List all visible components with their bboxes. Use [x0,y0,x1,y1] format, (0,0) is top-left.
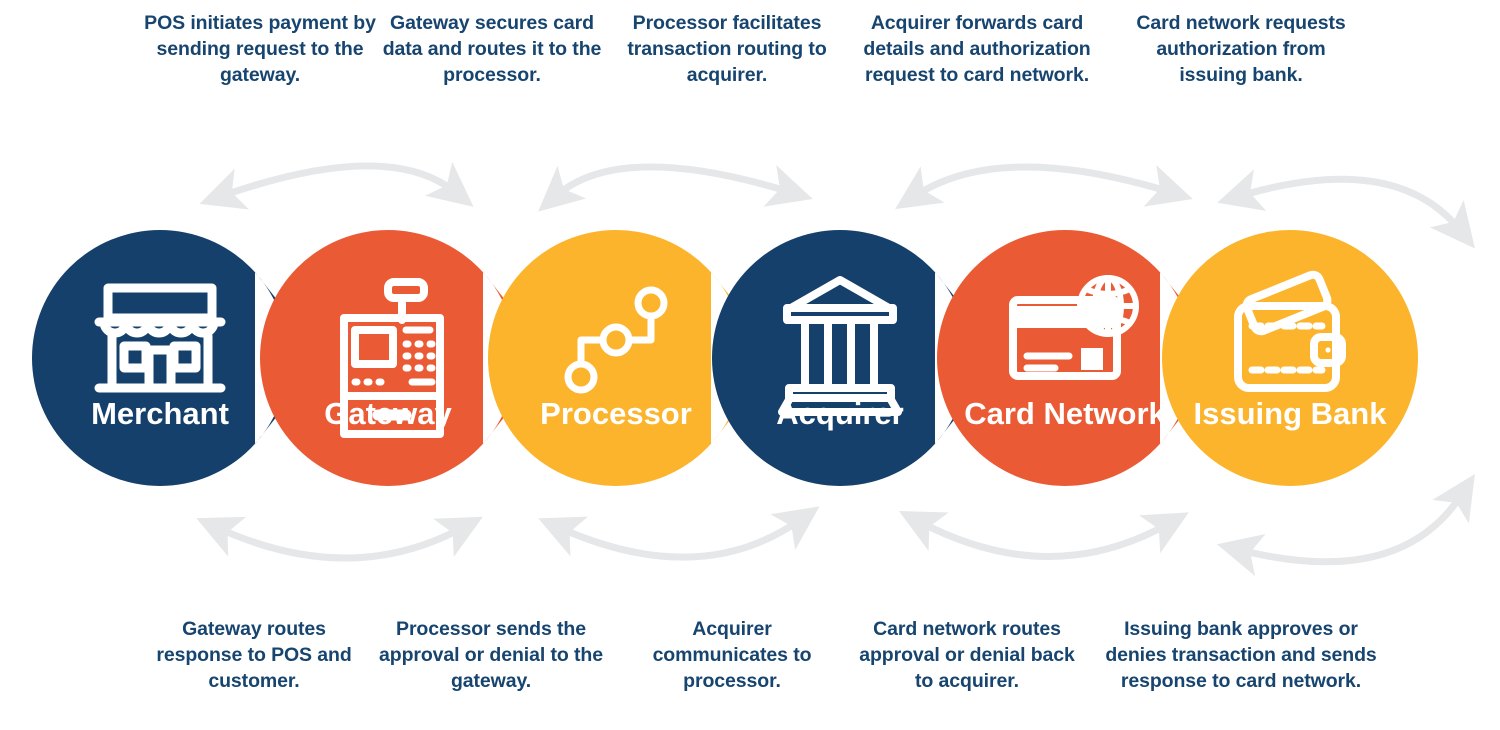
node-acquirer-label: Acquirer [776,396,903,431]
node-merchant-label: Merchant [91,396,229,431]
payment-flow-diagram: POS initiates payment by sending request… [0,0,1500,730]
flow-nodes-layer: Merchant [0,0,1500,730]
node-issuing-bank-label: Issuing Bank [1194,396,1388,431]
node-processor-label: Processor [540,396,692,431]
node-issuing-bank[interactable]: Issuing Bank [1162,230,1418,486]
node-gateway-label: Gateway [324,396,452,431]
node-card-network-label: Card Network [964,396,1166,431]
node-issuing-bank-shape [1162,230,1418,486]
